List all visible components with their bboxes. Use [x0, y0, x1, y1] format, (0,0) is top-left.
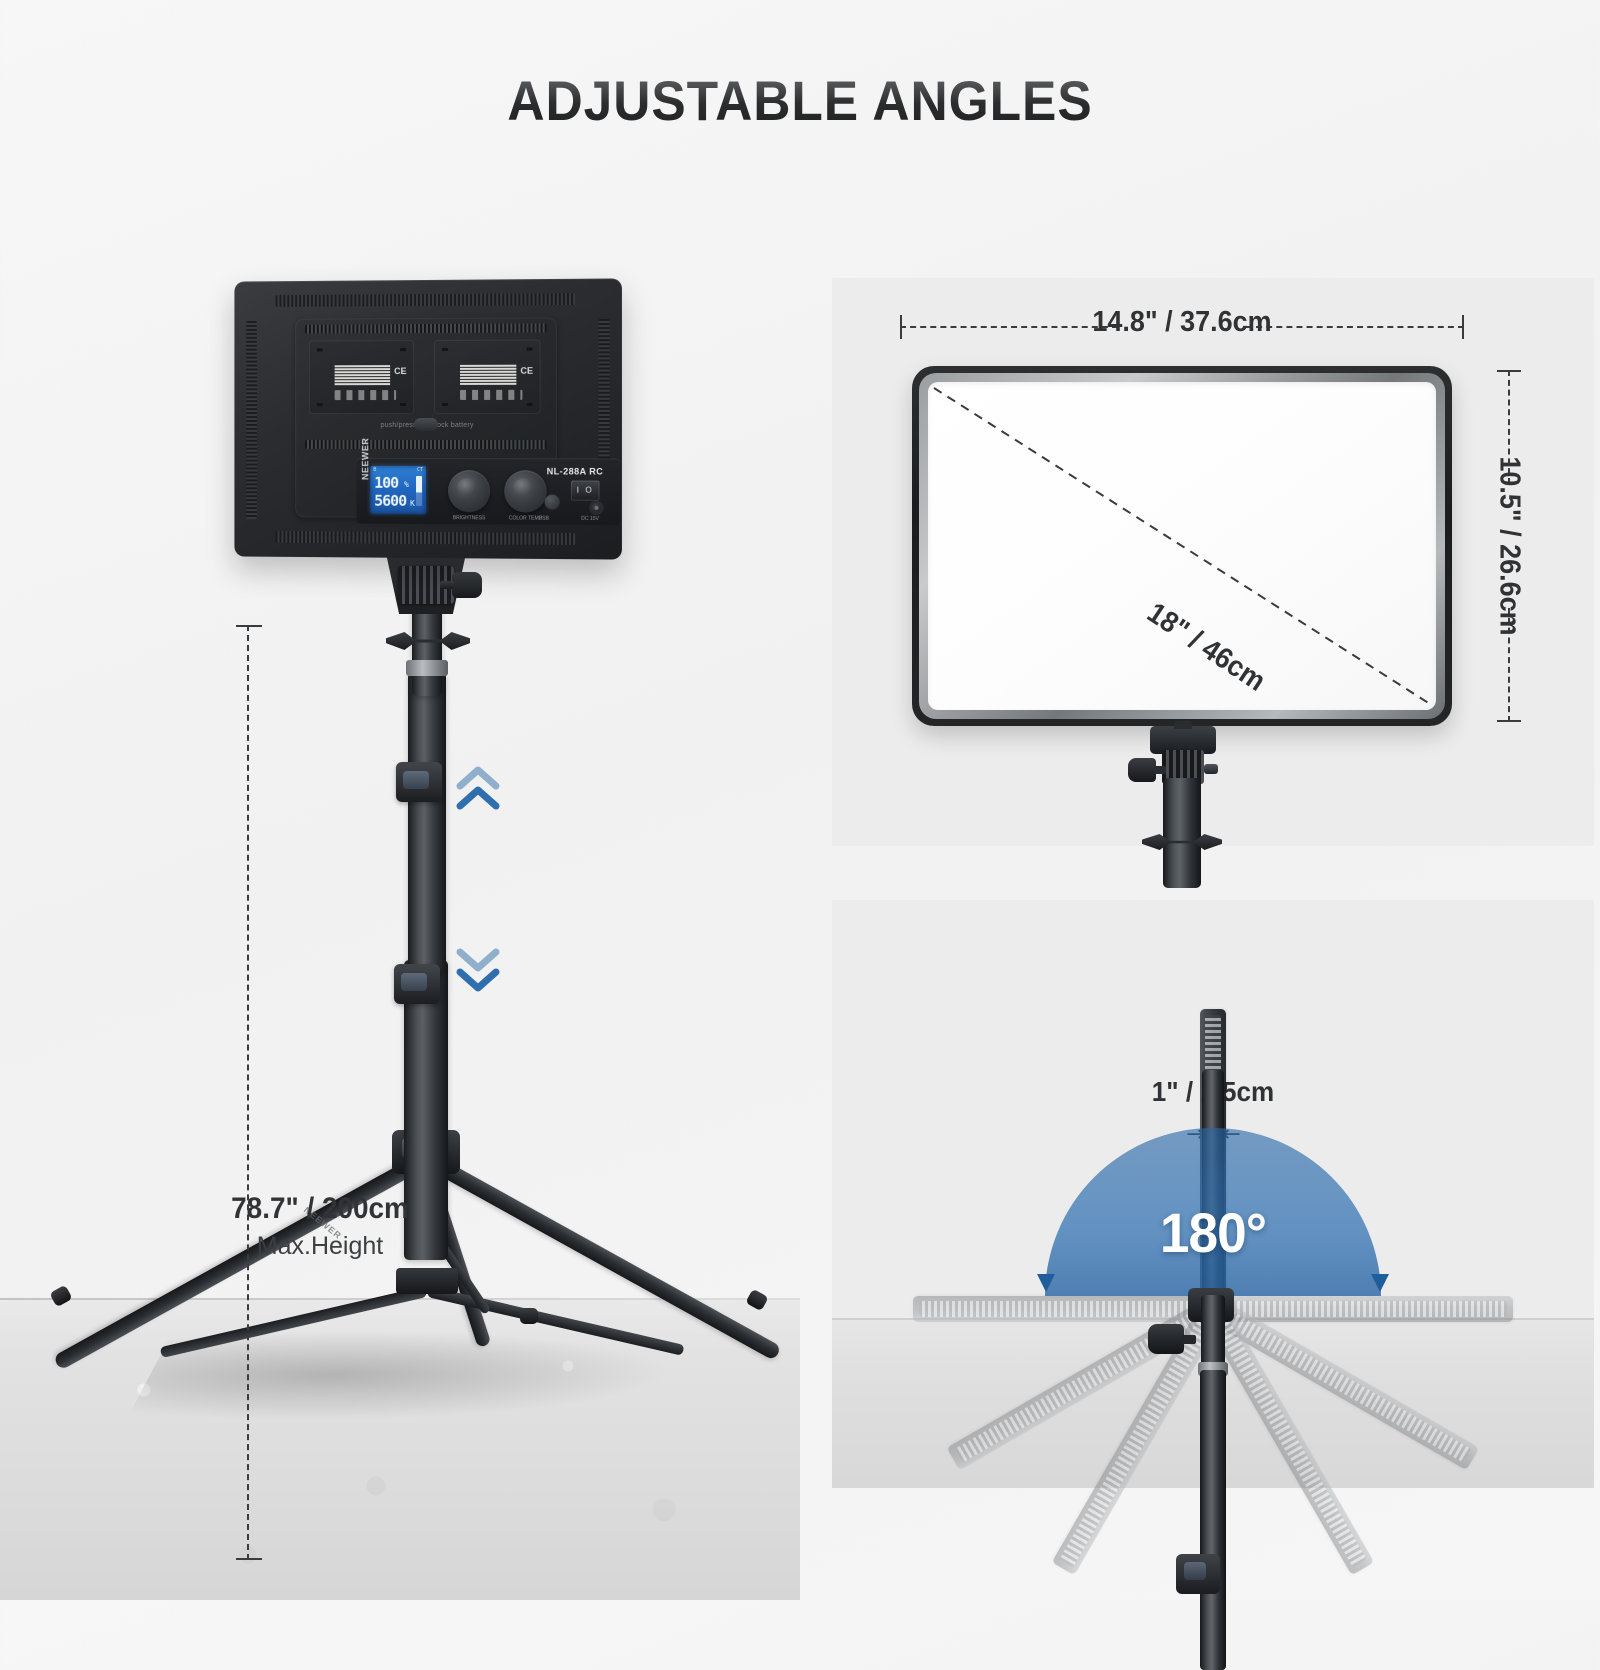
dc-power-port[interactable]: [589, 501, 603, 515]
brightness-knob[interactable]: [448, 470, 490, 512]
color-temperature-knob[interactable]: [504, 470, 546, 512]
ce-mark-right: CE: [520, 366, 533, 376]
led-panel-front: 18" / 46cm: [912, 366, 1452, 726]
lcd-display: B CT 100 % 5600 K: [370, 466, 426, 514]
stand-tube-upper: [412, 600, 442, 696]
max-height-label: 78.7" / 200cm Max.Height: [170, 1192, 470, 1261]
rear-inner-plate: CE CE push/press to unlock batter: [295, 317, 557, 519]
ce-mark-left: CE: [394, 366, 406, 376]
bay2-screw-lt: [442, 348, 448, 351]
vent-slots-left: [246, 321, 257, 519]
bay2-screw-rt: [526, 348, 532, 351]
height-dimension: 10.5" / 26.6cm: [1508, 370, 1510, 722]
lcd-brightness-value: 100: [374, 474, 398, 492]
width-dimension: 14.8" / 37.6cm: [900, 326, 1464, 328]
stand-tube-top-card: [1163, 778, 1201, 888]
lcd-temperature-value: 5600: [374, 492, 406, 510]
usb-port[interactable]: [545, 495, 560, 510]
stand-tube-middle: [408, 672, 446, 972]
page-title: ADJUSTABLE ANGLES: [64, 68, 1536, 133]
dimension-tick-top: [236, 625, 262, 627]
bay2-screw-rb: [526, 403, 532, 406]
battery-unlock-button[interactable]: [414, 418, 438, 431]
brightness-knob-label: BRIGHTNESS: [441, 515, 497, 521]
bay2-screw-lb: [442, 403, 448, 406]
lcd-battery-bar: [416, 476, 422, 506]
angle-arrow-right-icon: [1371, 1274, 1389, 1292]
dimension-tick-bottom: [236, 1558, 262, 1560]
chevrons-up-icon: [456, 766, 500, 782]
width-dimension-label: 14.8" / 37.6cm: [920, 306, 1445, 339]
battery-bay-right: CE: [434, 339, 541, 414]
panel-dimensions-card: 14.8" / 37.6cm 10.5" / 26.6cm 18" / 46cm: [832, 278, 1594, 846]
tilt-fan-illustration: 180°: [832, 900, 1594, 1488]
inner-vent-top: [305, 323, 547, 333]
battery-icons-left: [335, 390, 396, 400]
tilt-pin: [1204, 764, 1218, 774]
bay-screw-rt: [400, 348, 406, 351]
lcd-brightness-tag: B: [373, 467, 376, 473]
height-dimension-label: 10.5" / 26.6cm: [1493, 456, 1526, 635]
lcd-brightness-unit: %: [404, 480, 409, 489]
tilt-lock-knob[interactable]: [452, 572, 482, 598]
max-height-caption: Max.Height: [170, 1232, 470, 1261]
angle-arrow-left-icon: [1037, 1274, 1055, 1292]
battery-label-left: [335, 364, 391, 386]
left-product-scene: NEEWER CE: [0, 180, 800, 1600]
vent-slots-bottom: [276, 531, 576, 545]
stand-lock-lower[interactable]: [394, 964, 440, 1004]
inner-vent-bottom: [305, 440, 547, 449]
battery-bay-left: CE: [309, 340, 414, 414]
usb-port-label: USB: [539, 516, 549, 522]
brand-logo: NEEWER: [360, 436, 370, 482]
panel-diffuser-face: [928, 382, 1436, 710]
stand-lock-upper[interactable]: [396, 762, 442, 802]
tilt-range-card: 1" / 2.5cm →| |← 180°: [832, 900, 1594, 1488]
stand-lock-bot[interactable]: [1176, 1554, 1220, 1594]
chevrons-down-icon: [456, 946, 500, 962]
tilt-pivot-knob[interactable]: [1148, 1324, 1184, 1354]
lcd-temperature-unit: K: [410, 499, 415, 508]
battery-icons-right: [460, 390, 522, 400]
stand-collar: [406, 660, 448, 676]
infographic-canvas: ADJUSTABLE ANGLES NEEWER: [0, 0, 1600, 1600]
tripod-foot-center: [520, 1308, 538, 1324]
model-name: NL-288A RC: [547, 466, 604, 476]
max-height-value: 78.7" / 200cm: [181, 1192, 460, 1226]
vent-slots-top: [276, 293, 576, 307]
control-panel: NEEWER B CT 100 % 5600 K BRIGHTNESS COLO…: [356, 458, 620, 525]
ghost-panel-180: [913, 1296, 1213, 1322]
bay-screw-lb: [317, 403, 323, 406]
dc-port-label: DC 15V: [581, 516, 599, 522]
tilt-knob[interactable]: [1128, 758, 1156, 782]
led-panel-rear: CE CE push/press to unlock batter: [234, 278, 622, 559]
stand-tube-lower-bot: [1200, 1370, 1226, 1670]
tripod-base-hub: [396, 1268, 458, 1294]
ghost-panel-0: [1213, 1296, 1513, 1322]
bay-screw-rb: [400, 403, 406, 406]
bay-screw-lt: [317, 348, 323, 351]
angle-badge: 180°: [1126, 1200, 1301, 1265]
max-height-dimension-line: [247, 625, 249, 1560]
power-switch[interactable]: I O: [571, 481, 599, 501]
battery-label-right: [460, 364, 516, 386]
lcd-battery-tag: CT: [417, 467, 423, 473]
